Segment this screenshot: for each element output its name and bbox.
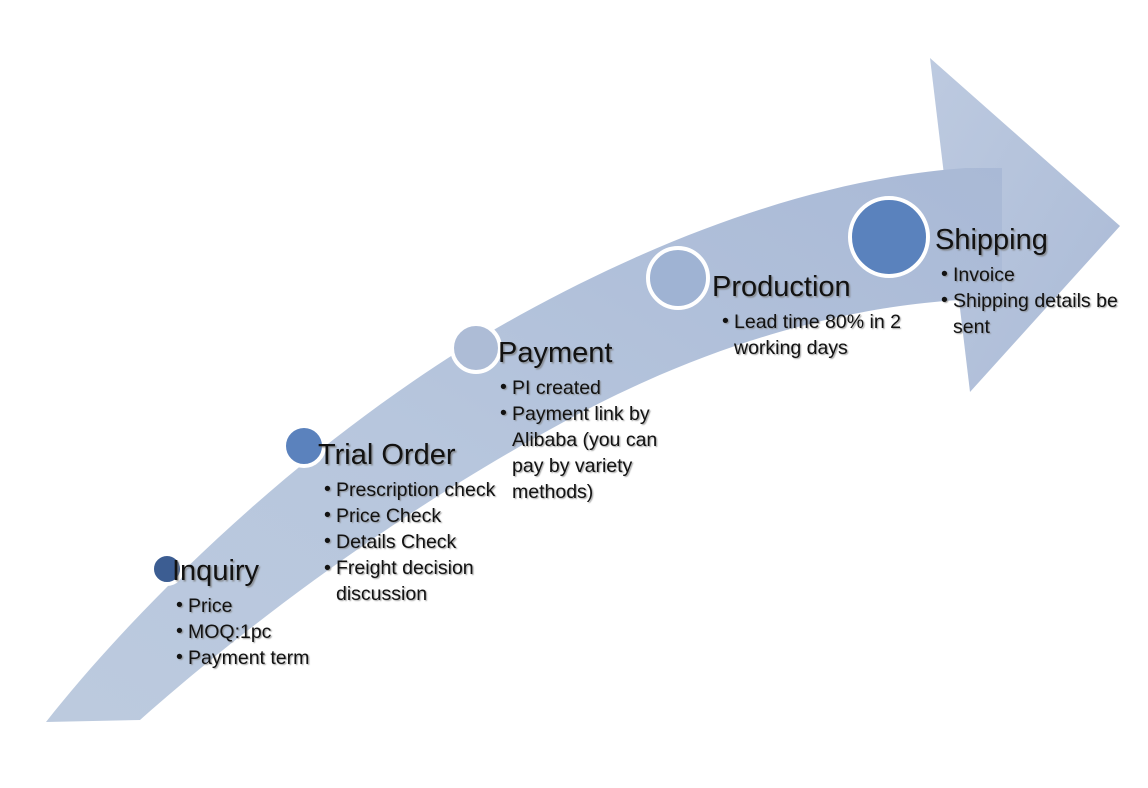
stage-shipping: Shipping Invoice Shipping details be sen… (935, 225, 1135, 340)
bullet-item: Lead time 80% in 2 working days (722, 309, 912, 361)
diagram-canvas: Inquiry Price MOQ:1pc Payment term Trial… (0, 0, 1148, 788)
stage-title-inquiry: Inquiry (172, 556, 332, 587)
bullet-item: Payment link by Alibaba (you can pay by … (500, 401, 688, 506)
bullet-item: Price (176, 593, 332, 619)
stage-production: Production Lead time 80% in 2 working da… (712, 272, 912, 361)
bullet-item: Payment term (176, 645, 332, 671)
stage-bullets-shipping: Invoice Shipping details be sent (941, 262, 1135, 340)
bullet-item: Price Check (324, 503, 508, 529)
bullet-item: MOQ:1pc (176, 619, 332, 645)
bullet-item: Shipping details be sent (941, 288, 1135, 340)
stage-bullets-payment: PI created Payment link by Alibaba (you … (500, 375, 688, 506)
stage-inquiry: Inquiry Price MOQ:1pc Payment term (172, 556, 332, 671)
stage-trial-order: Trial Order Prescription check Price Che… (318, 440, 508, 607)
stage-title-production: Production (712, 272, 912, 303)
stage-bullets-production: Lead time 80% in 2 working days (722, 309, 912, 361)
stage-bullets-inquiry: Price MOQ:1pc Payment term (176, 593, 332, 671)
stage-payment: Payment PI created Payment link by Aliba… (498, 338, 688, 505)
stage-title-payment: Payment (498, 338, 688, 369)
milestone-node-shipping[interactable] (848, 196, 930, 278)
bullet-item: PI created (500, 375, 688, 401)
bullet-item: Invoice (941, 262, 1135, 288)
stage-title-shipping: Shipping (935, 225, 1135, 256)
bullet-item: Prescription check (324, 477, 508, 503)
stage-title-trial-order: Trial Order (318, 440, 508, 471)
bullet-item: Freight decision discussion (324, 555, 508, 607)
milestone-node-payment[interactable] (450, 322, 502, 374)
bullet-item: Details Check (324, 529, 508, 555)
stage-bullets-trial-order: Prescription check Price Check Details C… (324, 477, 508, 608)
milestone-node-production[interactable] (646, 246, 710, 310)
